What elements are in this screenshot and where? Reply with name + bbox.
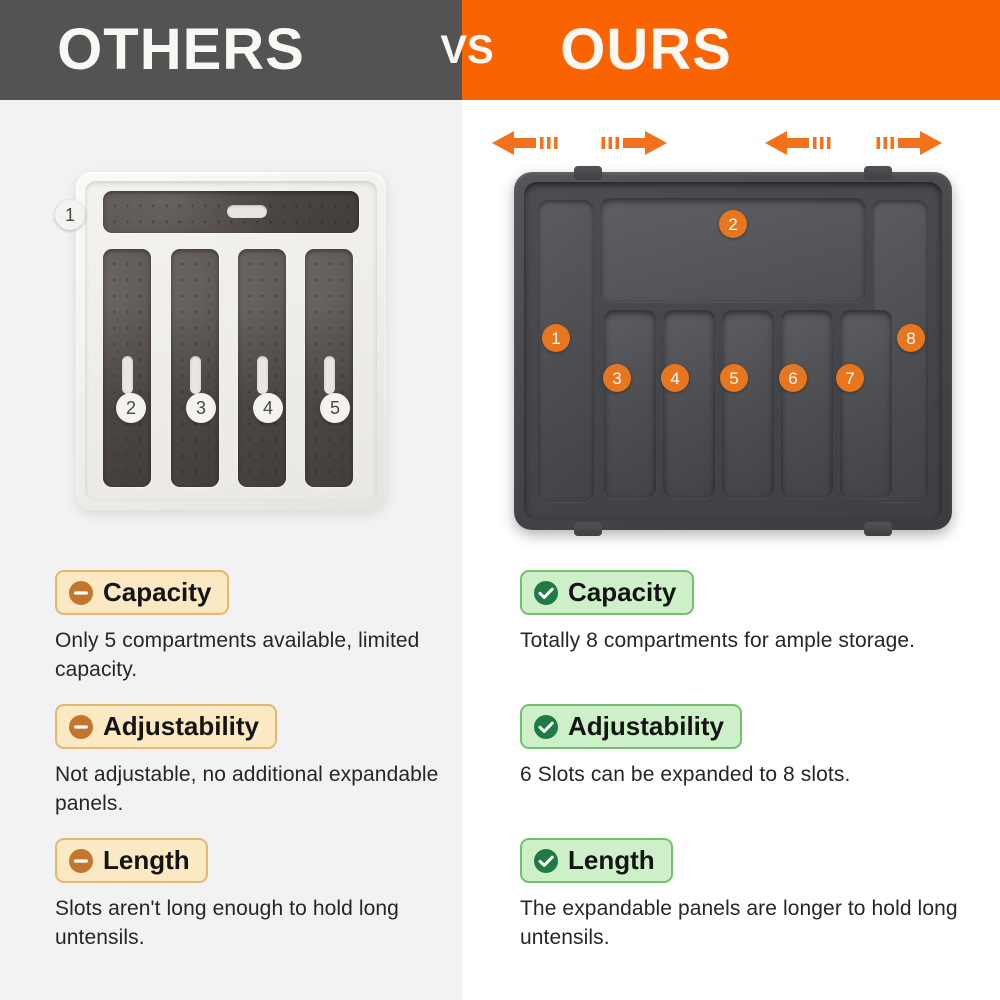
others-adjustability-description: Not adjustable, no additional expandable… — [55, 761, 475, 819]
slide-tab-top-left — [574, 166, 602, 180]
versus-label: VS — [427, 0, 507, 100]
compartment-6 — [781, 310, 833, 498]
ours-length-badge: Length — [520, 838, 673, 883]
others-adjustability-badge: Adjustability — [55, 704, 277, 749]
marker-3: 3 — [603, 364, 631, 392]
others-feature-adjustability: Adjustability Not adjustable, no additio… — [55, 704, 517, 819]
marker-5: 5 — [720, 364, 748, 392]
compartment-5 — [722, 310, 774, 498]
marker-4: 4 — [661, 364, 689, 392]
ours-column: 1 2 3 4 5 6 7 8 Capacity Totally 8 compa… — [462, 100, 1000, 1000]
check-circle-icon — [533, 580, 559, 606]
comparison-header: OTHERS OURS VS — [0, 0, 1000, 100]
marker-6: 6 — [779, 364, 807, 392]
ours-length-label: Length — [568, 847, 655, 874]
header-ours-title: OURS — [462, 0, 1000, 100]
grip-handle-3 — [190, 356, 201, 394]
others-length-description: Slots aren't long enough to hold long un… — [55, 895, 475, 953]
ours-feature-length: Length The expandable panels are longer … — [520, 838, 1000, 953]
marker-4: 4 — [253, 393, 283, 423]
others-capacity-label: Capacity — [103, 579, 211, 606]
compartment-3 — [604, 310, 656, 498]
ours-length-description: The expandable panels are longer to hold… — [520, 895, 960, 953]
others-length-label: Length — [103, 847, 190, 874]
slide-tab-bottom-left — [574, 522, 602, 536]
others-product-image — [76, 172, 386, 510]
grip-handle-5 — [324, 356, 335, 394]
ours-adjustability-label: Adjustability — [568, 713, 724, 740]
grip-handle-4 — [257, 356, 268, 394]
ours-adjustability-badge: Adjustability — [520, 704, 742, 749]
slide-tab-bottom-right — [864, 522, 892, 536]
compartment-4 — [663, 310, 715, 498]
marker-2: 2 — [719, 210, 747, 238]
marker-3: 3 — [186, 393, 216, 423]
minus-circle-icon — [68, 848, 94, 874]
marker-2: 2 — [116, 393, 146, 423]
marker-1: 1 — [542, 324, 570, 352]
grip-handle-2 — [122, 356, 133, 394]
marker-5: 5 — [320, 393, 350, 423]
ours-capacity-label: Capacity — [568, 579, 676, 606]
tray-interior — [85, 181, 377, 501]
grip-handle-1 — [227, 205, 267, 218]
ours-capacity-description: Totally 8 compartments for ample storage… — [520, 627, 960, 656]
marker-8: 8 — [897, 324, 925, 352]
others-length-badge: Length — [55, 838, 208, 883]
check-circle-icon — [533, 714, 559, 740]
header-others-title: OTHERS — [0, 0, 462, 100]
ours-capacity-badge: Capacity — [520, 570, 694, 615]
minus-circle-icon — [68, 580, 94, 606]
others-feature-capacity: Capacity Only 5 compartments available, … — [55, 570, 517, 685]
ours-adjustability-description: 6 Slots can be expanded to 8 slots. — [520, 761, 960, 790]
minus-circle-icon — [68, 714, 94, 740]
others-column: 1 2 3 4 5 Capacity Only 5 compartments a… — [0, 100, 462, 1000]
ours-feature-adjustability: Adjustability 6 Slots can be expanded to… — [520, 704, 1000, 790]
others-capacity-badge: Capacity — [55, 570, 229, 615]
ours-feature-capacity: Capacity Totally 8 compartments for ampl… — [520, 570, 1000, 656]
marker-7: 7 — [836, 364, 864, 392]
others-capacity-description: Only 5 compartments available, limited c… — [55, 627, 475, 685]
ours-product-image — [514, 145, 952, 545]
check-circle-icon — [533, 848, 559, 874]
others-feature-length: Length Slots aren't long enough to hold … — [55, 838, 517, 953]
slide-tab-top-right — [864, 166, 892, 180]
compartment-1-expandable-panel — [538, 200, 594, 502]
others-adjustability-label: Adjustability — [103, 713, 259, 740]
compartment-7 — [840, 310, 892, 498]
marker-1: 1 — [55, 200, 85, 230]
